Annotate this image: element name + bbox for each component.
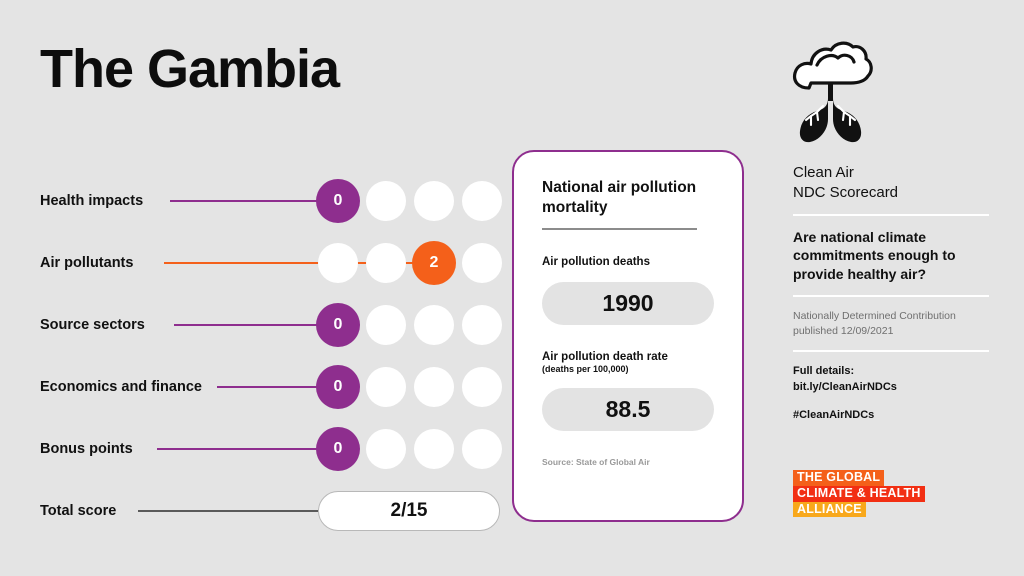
logo-line-3: ALLIANCE: [793, 502, 866, 518]
global-climate-health-alliance-logo: THE GLOBAL CLIMATE & HEALTH ALLIANCE: [793, 470, 925, 517]
score-dot-empty[interactable]: [414, 305, 454, 345]
score-dot-empty[interactable]: [366, 243, 406, 283]
brand-line-1: Clean Air: [793, 163, 989, 183]
score-row-connector: [157, 448, 338, 450]
score-row-label: Economics and finance: [40, 379, 202, 395]
score-row-connector: [170, 200, 338, 202]
lungs-cloud-icon: [787, 40, 989, 149]
scorecard: Health impacts0Air pollutants2Source sec…: [40, 170, 470, 542]
score-dot-empty[interactable]: [462, 367, 502, 407]
metric-label-deaths: Air pollution deaths: [542, 256, 714, 268]
score-row-label: Air pollutants: [40, 255, 133, 271]
logo-line-1: THE GLOBAL: [793, 470, 884, 486]
score-dot-filled[interactable]: 0: [316, 365, 360, 409]
right-info-panel: Clean Air NDC Scorecard Are national cli…: [793, 40, 989, 421]
score-dot-empty[interactable]: [366, 429, 406, 469]
score-dot-filled[interactable]: 2: [412, 241, 456, 285]
panel-divider-1: [793, 214, 989, 216]
score-dot-filled[interactable]: 0: [316, 179, 360, 223]
panel-divider-3: [793, 350, 989, 352]
score-dots: 0: [318, 365, 502, 409]
metric-sublabel-death-rate: (deaths per 100,000): [542, 364, 714, 374]
score-dot-empty[interactable]: [414, 367, 454, 407]
score-dots: 2: [318, 241, 502, 285]
score-row: Economics and finance0: [40, 356, 470, 418]
score-dot-empty[interactable]: [366, 181, 406, 221]
score-row-label: Bonus points: [40, 441, 133, 457]
score-row: Bonus points0: [40, 418, 470, 480]
logo-line-2: CLIMATE & HEALTH: [793, 486, 925, 502]
total-score-connector: [138, 510, 318, 512]
score-dot-empty[interactable]: [462, 429, 502, 469]
hashtag: #CleanAirNDCs: [793, 409, 989, 421]
total-score-row: Total score2/15: [40, 480, 470, 542]
metric-value-death-rate: 88.5: [542, 388, 714, 431]
brand-line-2: NDC Scorecard: [793, 183, 989, 203]
card-title: National air pollution mortality: [542, 178, 714, 218]
score-dot-filled[interactable]: 0: [316, 303, 360, 347]
total-score-value: 2/15: [318, 491, 500, 531]
full-details-url[interactable]: bit.ly/CleanAirNDCs: [793, 380, 989, 395]
score-dot-empty[interactable]: [414, 429, 454, 469]
score-row-label: Health impacts: [40, 193, 143, 209]
full-details-block: Full details: bit.ly/CleanAirNDCs: [793, 364, 989, 394]
brand-title: Clean Air NDC Scorecard: [793, 163, 989, 202]
score-dot-empty[interactable]: [462, 243, 502, 283]
score-dot-filled[interactable]: 0: [316, 427, 360, 471]
score-dots: 0: [318, 179, 502, 223]
national-air-pollution-mortality-card: National air pollution mortality Air pol…: [512, 150, 744, 522]
panel-divider-2: [793, 295, 989, 297]
score-dot-empty[interactable]: [366, 305, 406, 345]
score-row-connector: [174, 324, 338, 326]
score-row: Source sectors0: [40, 294, 470, 356]
score-row: Air pollutants2: [40, 232, 470, 294]
score-row: Health impacts0: [40, 170, 470, 232]
score-dot-empty[interactable]: [366, 367, 406, 407]
score-dots: 0: [318, 303, 502, 347]
score-dots: 0: [318, 427, 502, 471]
page-title: The Gambia: [40, 42, 339, 96]
total-score-label: Total score: [40, 503, 116, 519]
score-dot-empty[interactable]: [462, 181, 502, 221]
score-dot-empty[interactable]: [318, 243, 358, 283]
score-dot-empty[interactable]: [462, 305, 502, 345]
metric-value-deaths: 1990: [542, 282, 714, 325]
full-details-label: Full details:: [793, 364, 989, 379]
panel-question: Are national climate commitments enough …: [793, 228, 989, 283]
card-title-divider: [542, 228, 697, 230]
score-dot-empty[interactable]: [414, 181, 454, 221]
card-source: Source: State of Global Air: [542, 457, 714, 467]
ndc-published-note: Nationally Determined Contribution publi…: [793, 309, 989, 338]
metric-label-death-rate: Air pollution death rate: [542, 351, 714, 363]
score-row-label: Source sectors: [40, 317, 145, 333]
